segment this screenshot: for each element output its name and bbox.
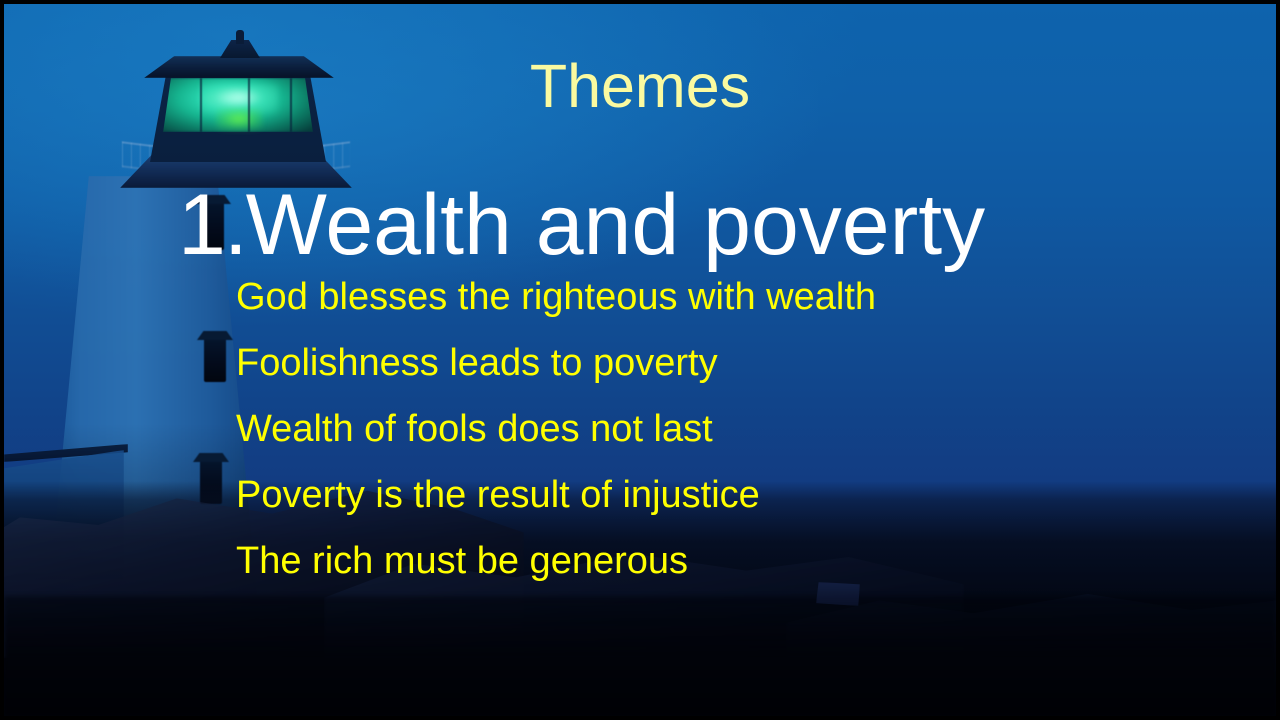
tower-window-middle bbox=[204, 338, 226, 382]
list-item: Foolishness leads to poverty bbox=[236, 330, 1136, 396]
list-item: The rich must be generous bbox=[236, 528, 1136, 594]
lamp-room-finial bbox=[236, 30, 244, 44]
list-item: Poverty is the result of injustice bbox=[236, 462, 1136, 528]
heading-text: Wealth and poverty bbox=[246, 177, 985, 273]
rock-shadow-band bbox=[4, 596, 1276, 716]
slide-title: Themes bbox=[0, 56, 1280, 117]
list-item: God blesses the righteous with wealth bbox=[236, 264, 1136, 330]
slide-heading: 1.Wealth and poverty bbox=[178, 182, 985, 268]
presentation-slide: Themes 1.Wealth and poverty God blesses … bbox=[0, 0, 1280, 720]
list-item: Wealth of fools does not last bbox=[236, 396, 1136, 462]
bullet-list: God blesses the righteous with wealth Fo… bbox=[236, 264, 1136, 594]
heading-number: 1. bbox=[178, 177, 246, 273]
